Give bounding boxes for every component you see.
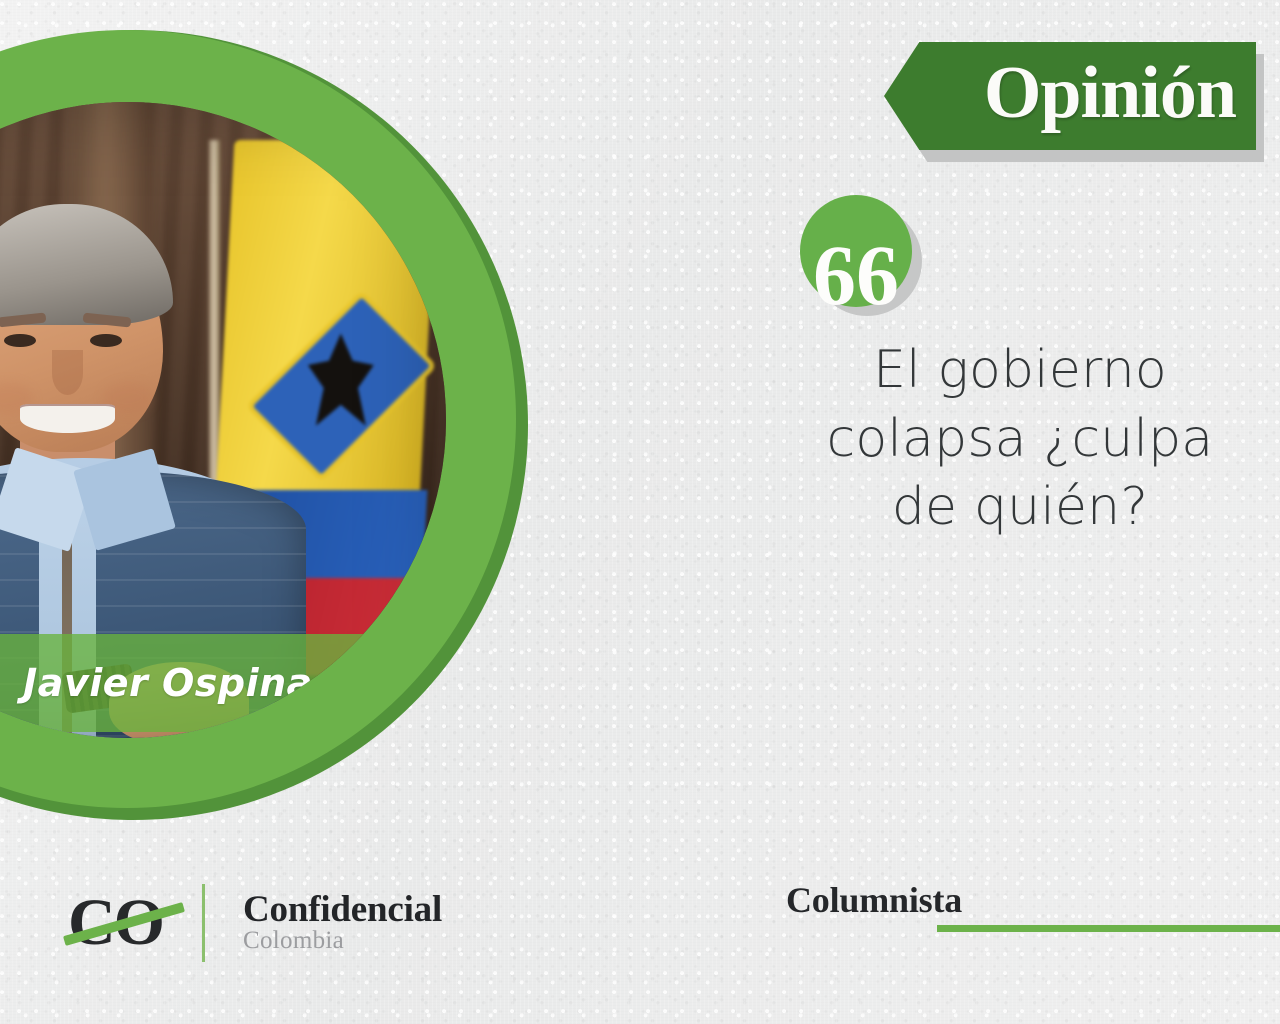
headline: El gobierno colapsa ¿culpa de quién? [770,336,1270,542]
quotation-mark-icon: 66 [800,195,912,307]
opinion-ribbon: Opinión [884,42,1256,150]
brand-region: Colombia [243,928,442,954]
co-monogram-icon: CO [68,889,180,957]
poster-canvas: Javier Ospina Opinión 66 El gobierno col… [0,0,1280,1024]
columnist-green-rule [937,925,1280,932]
headline-line-3: de quién? [770,473,1270,542]
clasped-hands [109,662,249,738]
nose [52,350,84,395]
quote-glyph: 66 [813,232,899,318]
ribbon-label: Opinión [984,56,1236,130]
brand-wordmark: Confidencial Colombia [243,891,442,954]
author-photo-composition: Javier Ospina [0,30,758,830]
logo-divider [202,884,205,962]
headline-line-1: El gobierno [770,336,1270,405]
headline-line-2: colapsa ¿culpa [770,405,1270,474]
brand-name: Confidencial [243,891,442,930]
left-arrow-ribbon-icon: Opinión [884,42,1256,150]
author-photo: Javier Ospina [0,102,446,738]
hair [0,204,173,325]
columnist-label: Columnista [786,879,962,921]
brand-logo: CO Confidencial Colombia [68,884,442,962]
person-illustration [0,102,446,738]
